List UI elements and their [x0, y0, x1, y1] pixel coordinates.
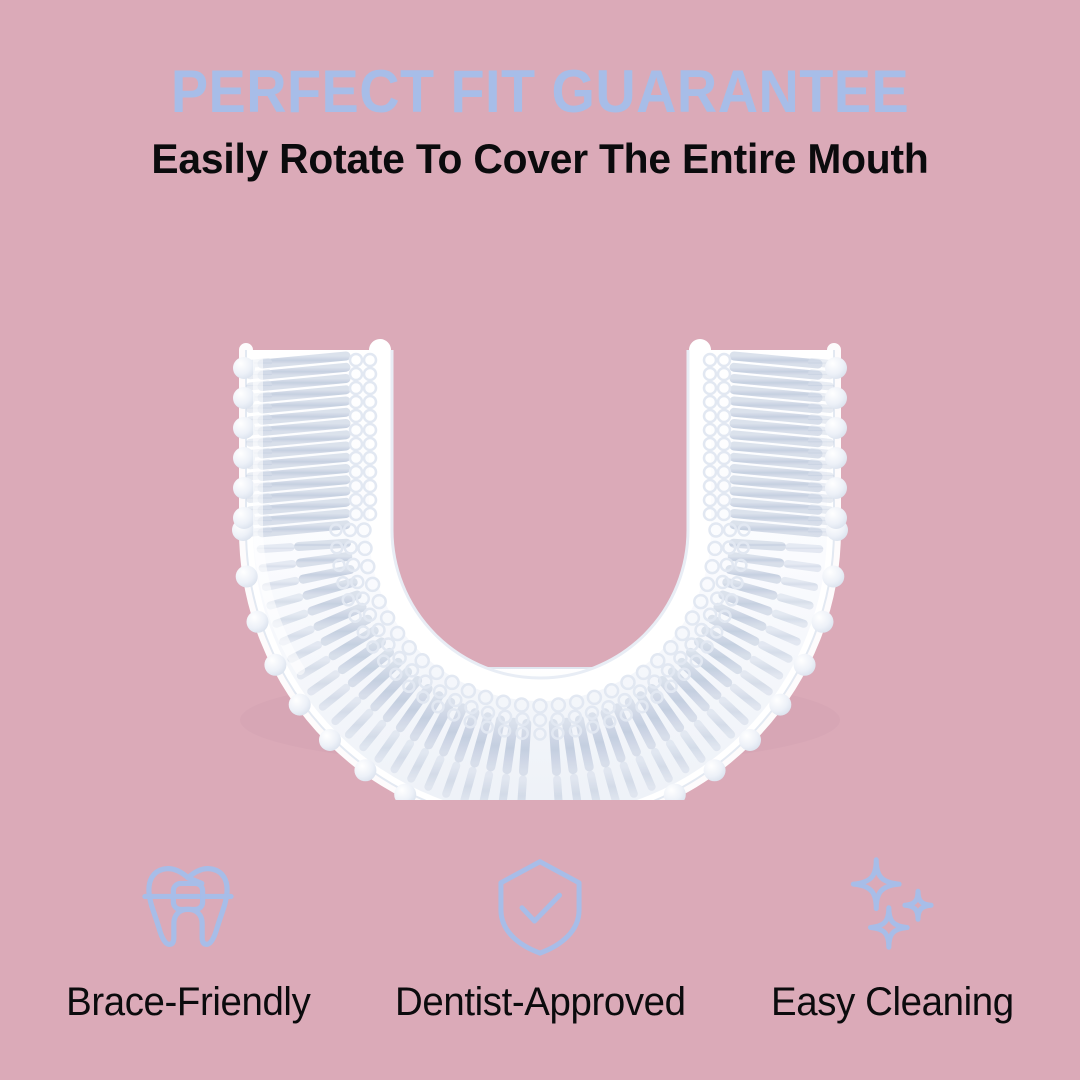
subheadline: Easily Rotate To Cover The Entire Mouth	[16, 133, 1064, 185]
feature-dentist-approved: Dentist-Approved	[370, 855, 710, 1025]
shield-check-icon	[490, 855, 590, 959]
feature-easy-cleaning: Easy Cleaning	[722, 855, 1062, 1025]
feature-label: Dentist-Approved	[395, 979, 686, 1025]
sparkles-icon	[840, 855, 944, 959]
feature-label: Brace-Friendly	[66, 979, 310, 1025]
product-image	[0, 200, 1080, 800]
feature-label: Easy Cleaning	[771, 979, 1014, 1025]
product-marketing-poster: PERFECT FIT GUARANTEE Easily Rotate To C…	[0, 0, 1080, 1080]
headline: PERFECT FIT GUARANTEE	[38, 60, 1042, 124]
feature-brace-friendly: Brace-Friendly	[18, 855, 358, 1025]
feature-row: Brace-Friendly Dentist-Approved	[0, 855, 1080, 1055]
tooth-braces-icon	[136, 855, 240, 959]
